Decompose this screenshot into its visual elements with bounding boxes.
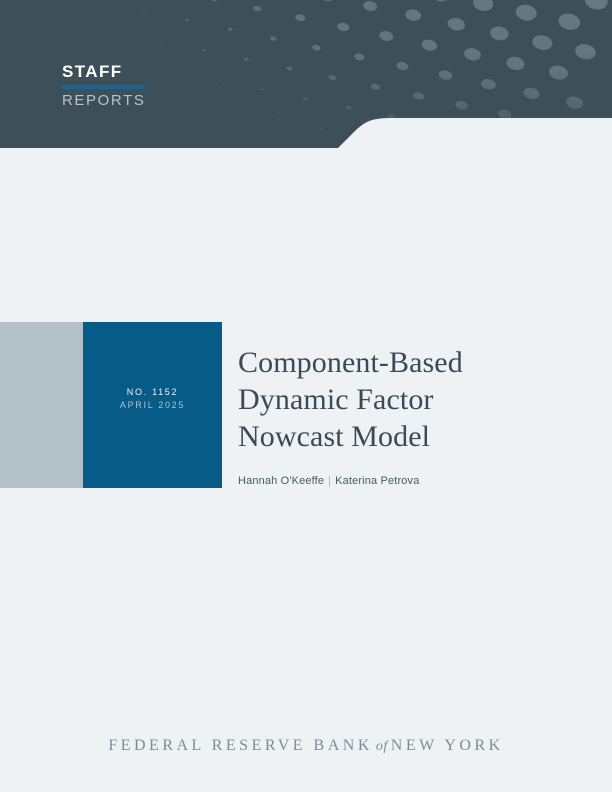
wordmark-part-2: NEW YORK	[391, 737, 504, 754]
page-title-line-2: Dynamic Factor	[238, 381, 578, 418]
masthead-staff-text: STAFF	[62, 62, 262, 82]
footer: FEDERAL RESERVE BANKofNEW YORK	[0, 736, 612, 757]
author-name-2: Katerina Petrova	[335, 475, 419, 487]
title-area: Component-Based Dynamic Factor Nowcast M…	[238, 344, 578, 488]
page-title-line-1: Component-Based	[238, 344, 578, 381]
wordmark-of: of	[373, 739, 391, 754]
author-separator: |	[324, 475, 335, 487]
issue-number: NO. 1152	[83, 386, 222, 399]
swatch-gray-block	[0, 322, 83, 488]
author-name-1: Hannah O'Keeffe	[238, 475, 324, 487]
wordmark-part-1: FEDERAL RESERVE BANK	[108, 737, 373, 754]
institution-wordmark: FEDERAL RESERVE BANKofNEW YORK	[0, 736, 612, 757]
author-line: Hannah O'Keeffe|Katerina Petrova	[238, 474, 578, 488]
page-title: Component-Based Dynamic Factor Nowcast M…	[238, 344, 578, 455]
issue-date: APRIL 2025	[83, 399, 222, 412]
issue-metadata: NO. 1152 APRIL 2025	[83, 386, 222, 412]
page-title-line-3: Nowcast Model	[238, 418, 578, 455]
cover-page: STAFF REPORTS NO. 1152 APRIL 2025 Compon…	[0, 0, 612, 792]
masthead-reports-text: REPORTS	[62, 92, 262, 110]
masthead-lockup: STAFF REPORTS	[62, 62, 262, 110]
masthead-divider-rule	[62, 85, 145, 89]
